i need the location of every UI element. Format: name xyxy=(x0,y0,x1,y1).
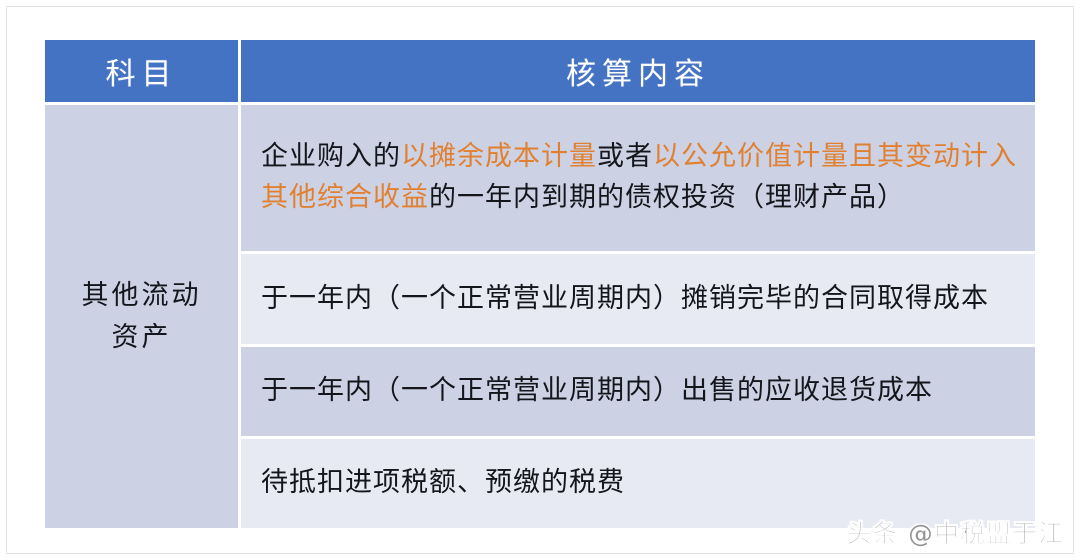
column-header-content: 核算内容 xyxy=(241,40,1035,102)
table-row: 其他流动资产 企业购入的以摊余成本计量或者以公允价值计量且其变动计入其他综合收益… xyxy=(45,102,1035,251)
watermark-at-symbol: @ xyxy=(908,519,934,548)
text-segment-plain: 于一年内（一个正常营业周期内）出售的应收退货成本 xyxy=(261,375,933,406)
content-cell-debt-investment: 企业购入的以摊余成本计量或者以公允价值计量且其变动计入其他综合收益的一年内到期的… xyxy=(241,102,1035,251)
subject-cell-other-current-assets: 其他流动资产 xyxy=(45,102,241,528)
content-cell-contract-cost: 于一年内（一个正常营业周期内）摊销完毕的合同取得成本 xyxy=(241,251,1035,343)
text-segment-plain: 于一年内（一个正常营业周期内）摊销完毕的合同取得成本 xyxy=(261,283,989,314)
accounting-table-container: 科目 核算内容 其他流动资产 企业购入的以摊余成本计量或者以公允价值计量且其变动… xyxy=(45,40,1035,528)
content-cell-return-cost: 于一年内（一个正常营业周期内）出售的应收退货成本 xyxy=(241,344,1035,436)
column-header-subject: 科目 xyxy=(45,40,241,102)
accounting-table: 科目 核算内容 其他流动资产 企业购入的以摊余成本计量或者以公允价值计量且其变动… xyxy=(45,40,1035,528)
watermark-account: 中税盟于江 xyxy=(934,519,1064,548)
watermark: 头条 @中税盟于江 xyxy=(846,514,1064,550)
table-header-row: 科目 核算内容 xyxy=(45,40,1035,102)
text-segment-plain: 企业购入的 xyxy=(261,141,401,172)
text-segment-highlight: 以摊余成本计量 xyxy=(401,141,597,172)
subject-line-2: 资产 xyxy=(112,322,172,353)
text-segment-plain: 或者 xyxy=(597,141,653,172)
subject-line-1: 其他流动 xyxy=(82,280,202,311)
watermark-prefix: 头条 xyxy=(846,519,898,548)
text-segment-plain: 的一年内到期的债权投资（理财产品） xyxy=(429,182,905,213)
text-segment-plain: 待抵扣进项税额、预缴的税费 xyxy=(261,467,625,498)
